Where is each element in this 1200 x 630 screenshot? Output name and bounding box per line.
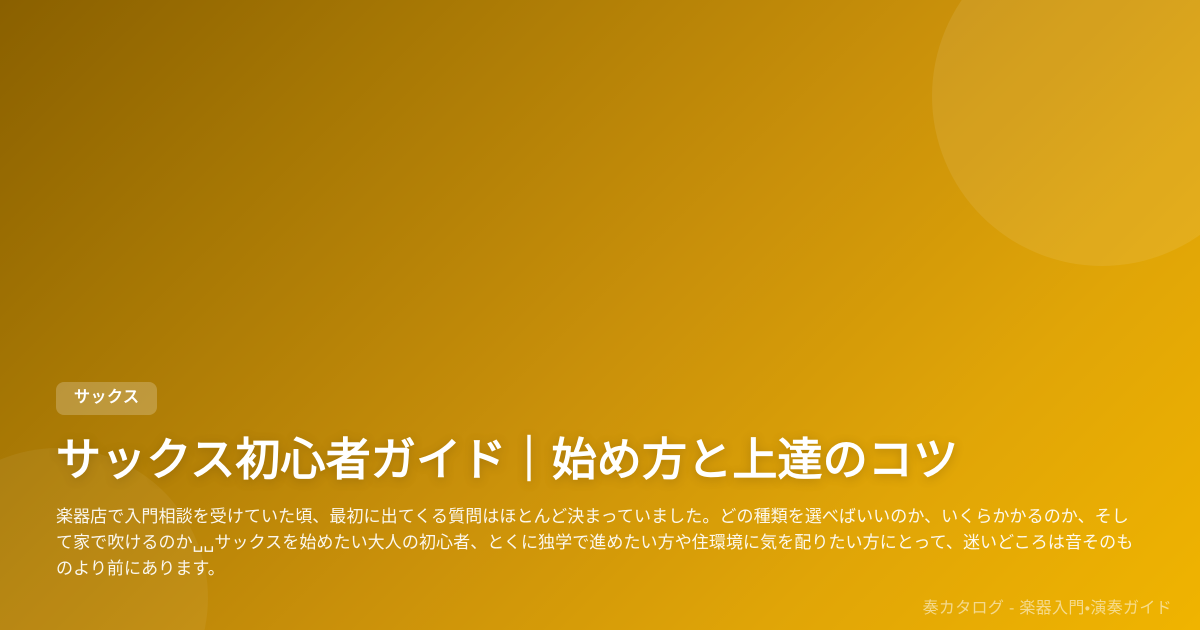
site-name-footer: 奏カタログ - 楽器入門・演奏ガイド	[923, 594, 1172, 618]
page-description: 楽器店で入門相談を受けていた頃、最初に出てくる質問はほとんど決まっていました。ど…	[56, 504, 1144, 582]
card-content: サックス サックス初心者ガイド｜始め方と上達のコツ 楽器店で入門相談を受けていた…	[56, 382, 1144, 582]
og-image-card: サックス サックス初心者ガイド｜始め方と上達のコツ 楽器店で入門相談を受けていた…	[0, 0, 1200, 630]
page-title: サックス初心者ガイド｜始め方と上達のコツ	[56, 433, 1144, 486]
category-badge[interactable]: サックス	[56, 382, 157, 415]
decorative-circle-top-right	[932, 0, 1200, 266]
